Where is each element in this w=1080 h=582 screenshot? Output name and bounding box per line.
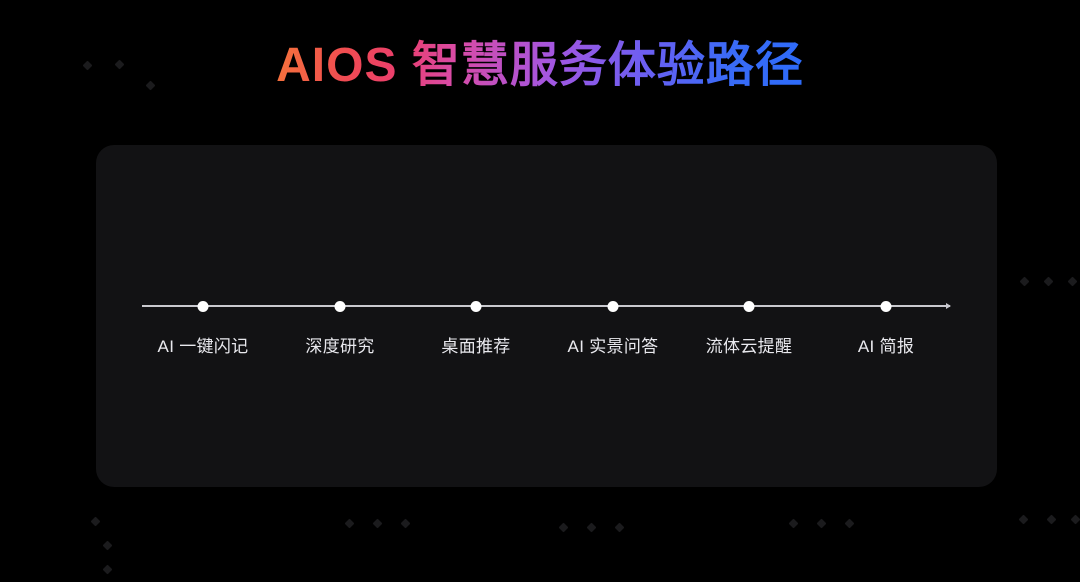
timeline-line bbox=[142, 305, 950, 307]
decorative-diamond-dot bbox=[615, 523, 625, 533]
decorative-diamond-dot bbox=[401, 519, 411, 529]
timeline-node-label-4[interactable]: 流体云提醒 bbox=[706, 332, 793, 357]
decorative-diamond-dot bbox=[1071, 515, 1080, 525]
decorative-diamond-dot bbox=[1047, 515, 1057, 525]
timeline-card bbox=[96, 145, 997, 487]
timeline-node-label-1[interactable]: 深度研究 bbox=[305, 332, 374, 357]
decorative-diamond-dot bbox=[1019, 515, 1029, 525]
timeline-node-dot-1[interactable] bbox=[335, 301, 346, 312]
page-title: AIOS 智慧服务体验路径 bbox=[276, 36, 804, 96]
timeline-node-dot-0[interactable] bbox=[198, 301, 209, 312]
timeline-node-label-2[interactable]: 桌面推荐 bbox=[441, 332, 510, 357]
timeline-node-label-5[interactable]: AI 简报 bbox=[858, 332, 914, 357]
timeline-node-dot-5[interactable] bbox=[881, 301, 892, 312]
timeline-node-dot-4[interactable] bbox=[744, 301, 755, 312]
decorative-diamond-dot bbox=[817, 519, 827, 529]
timeline-arrow-icon bbox=[946, 303, 951, 309]
decorative-diamond-dot bbox=[1044, 277, 1054, 287]
timeline-node-label-3[interactable]: AI 实景问答 bbox=[568, 332, 659, 357]
timeline-node-dot-3[interactable] bbox=[608, 301, 619, 312]
decorative-diamond-dot bbox=[789, 519, 799, 529]
decorative-diamond-dot bbox=[103, 541, 113, 551]
timeline-node-dot-2[interactable] bbox=[471, 301, 482, 312]
decorative-diamond-dot bbox=[103, 565, 113, 575]
decorative-diamond-dot bbox=[845, 519, 855, 529]
decorative-diamond-dot bbox=[1068, 277, 1078, 287]
timeline-track bbox=[142, 305, 950, 307]
decorative-diamond-dot bbox=[373, 519, 383, 529]
decorative-diamond-dot bbox=[587, 523, 597, 533]
decorative-diamond-dot bbox=[91, 517, 101, 527]
timeline-node-label-0[interactable]: AI 一键闪记 bbox=[158, 332, 249, 357]
decorative-diamond-dot bbox=[1020, 277, 1030, 287]
decorative-diamond-dot bbox=[345, 519, 355, 529]
decorative-diamond-dot bbox=[559, 523, 569, 533]
page-title-container: AIOS 智慧服务体验路径 bbox=[0, 36, 1080, 96]
